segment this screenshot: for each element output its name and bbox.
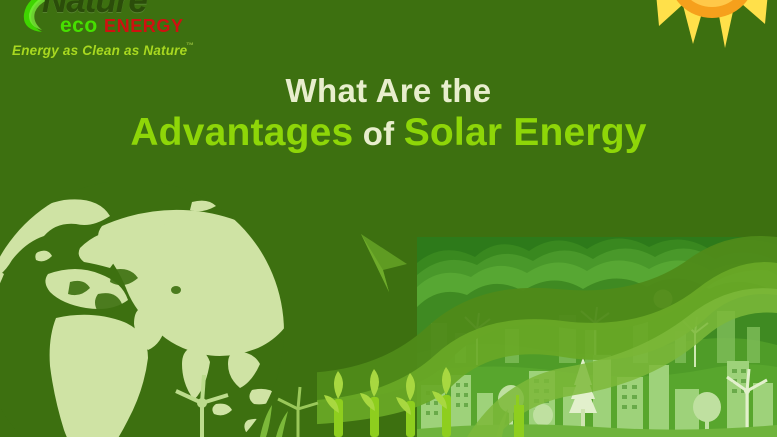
sprout-icon — [396, 373, 415, 437]
seedling-sprouts-illustration — [120, 347, 550, 437]
solar-tower-icon — [514, 395, 524, 437]
headline-solar-energy: Solar Energy — [404, 111, 647, 154]
brand-logo[interactable]: Nature eco ENERGY Energy as Clean as Nat… — [0, 0, 225, 68]
headline-advantages: Advantages — [130, 111, 353, 154]
headline-of: of — [353, 115, 403, 152]
banner-root: Nature eco ENERGY Energy as Clean as Nat… — [0, 0, 777, 437]
sprout-icon — [360, 369, 379, 437]
logo-trademark: ™ — [186, 41, 194, 50]
headline-line-2: Advantages of Solar Energy — [0, 113, 777, 152]
sun-icon — [647, 0, 777, 63]
page-title: What Are the Advantages of Solar Energy — [0, 74, 777, 152]
logo-eco-text: eco — [60, 14, 98, 38]
logo-energy-text: ENERGY — [104, 16, 184, 37]
sprout-icon — [324, 371, 343, 437]
headline-line-1: What Are the — [0, 74, 777, 107]
sprout-icon — [432, 367, 451, 437]
wind-turbine-icon — [278, 387, 318, 437]
logo-tagline: Energy as Clean as Nature — [12, 43, 187, 58]
